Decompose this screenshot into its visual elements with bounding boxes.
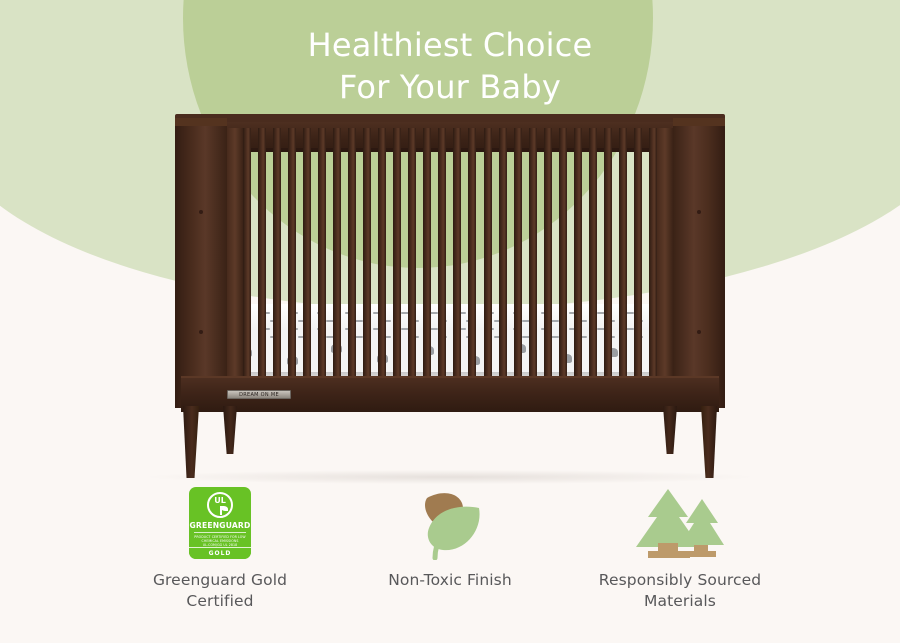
- feature-badge-non-toxic: Non-Toxic Finish: [355, 484, 545, 591]
- crib-end-post-left: [175, 118, 227, 408]
- hero-banner: Healthiest Choice For Your Baby: [0, 0, 900, 643]
- crib-slat: [544, 128, 552, 404]
- page-title-line-1: Healthiest Choice: [0, 24, 900, 66]
- page-title-line-2: For Your Baby: [0, 66, 900, 108]
- crib-slat: [438, 128, 446, 404]
- two-leaves-icon: [409, 484, 491, 562]
- crib-slat: [333, 128, 341, 404]
- crib-post-cap-right: [673, 118, 725, 126]
- greenguard-gold-certificate-icon: UL GREENGUARD PRODUCT CERTIFIED FOR LOW …: [189, 484, 251, 562]
- crib-screw-right-lower: [697, 330, 701, 334]
- greenguard-divider: [194, 532, 246, 533]
- crib-slat: [634, 128, 642, 404]
- crib-end-post-right: [673, 118, 725, 408]
- page-title: Healthiest Choice For Your Baby: [0, 24, 900, 108]
- pine-trees-with-logs-icon: [630, 484, 730, 562]
- crib-slat: [453, 128, 461, 404]
- crib-slat: [559, 128, 567, 404]
- feature-badges: UL GREENGUARD PRODUCT CERTIFIED FOR LOW …: [0, 484, 900, 634]
- brand-nameplate: DREAM ON ME: [227, 390, 291, 399]
- crib-leg-back-right: [663, 406, 677, 454]
- ul-mark-text: UL: [209, 496, 231, 505]
- crib-slat: [619, 128, 627, 404]
- greenguard-tier-bar: GOLD: [189, 547, 251, 559]
- crib-slat: [318, 128, 326, 404]
- greenguard-brand-text: GREENGUARD: [189, 521, 250, 530]
- crib-inner-post-right: [657, 128, 673, 404]
- product-floor-shadow: [150, 470, 750, 484]
- crib-slat: [604, 128, 612, 404]
- greenguard-tier-text: GOLD: [209, 550, 232, 557]
- feature-badge-label: Responsibly Sourced Materials: [585, 570, 775, 612]
- greenguard-card: UL GREENGUARD PRODUCT CERTIFIED FOR LOW …: [189, 487, 251, 559]
- crib-screw-left-lower: [199, 330, 203, 334]
- crib-slat: [393, 128, 401, 404]
- crib-slat: [288, 128, 296, 404]
- crib-leg-back-left: [223, 406, 237, 454]
- sprout-leaf-icon: [220, 506, 222, 515]
- crib-slat: [574, 128, 582, 404]
- crib-leg-front-left: [183, 406, 199, 478]
- crib-slat: [514, 128, 522, 404]
- feature-badge-greenguard: UL GREENGUARD PRODUCT CERTIFIED FOR LOW …: [125, 484, 315, 612]
- crib-screw-left-upper: [199, 210, 203, 214]
- crib-slat: [273, 128, 281, 404]
- crib-slat: [363, 128, 371, 404]
- crib-leg-front-right: [701, 406, 717, 478]
- crib-slat: [499, 128, 507, 404]
- crib-slat: [408, 128, 416, 404]
- crib-slat: [423, 128, 431, 404]
- crib-slat: [468, 128, 476, 404]
- crib-slat: [484, 128, 492, 404]
- crib-post-cap-left: [175, 118, 227, 126]
- crib-slat: [378, 128, 386, 404]
- crib-slat: [258, 128, 266, 404]
- ul-mark-icon: UL: [207, 492, 233, 518]
- crib-slat: [589, 128, 597, 404]
- feature-badge-responsibly-sourced: Responsibly Sourced Materials: [585, 484, 775, 612]
- crib-slat: [303, 128, 311, 404]
- crib-slat: [649, 128, 657, 404]
- crib-inner-post-left: [227, 128, 243, 404]
- crib-screw-right-upper: [697, 210, 701, 214]
- crib-slat: [348, 128, 356, 404]
- feature-badge-label: Non-Toxic Finish: [388, 570, 512, 591]
- feature-badge-label: Greenguard Gold Certified: [125, 570, 315, 612]
- greenguard-fine-print: PRODUCT CERTIFIED FOR LOW CHEMICAL EMISS…: [194, 535, 246, 548]
- crib-slat: [243, 128, 251, 404]
- product-image-crib: DREAM ON ME: [175, 114, 725, 474]
- crib-slat: [529, 128, 537, 404]
- crib-slats: [243, 128, 657, 404]
